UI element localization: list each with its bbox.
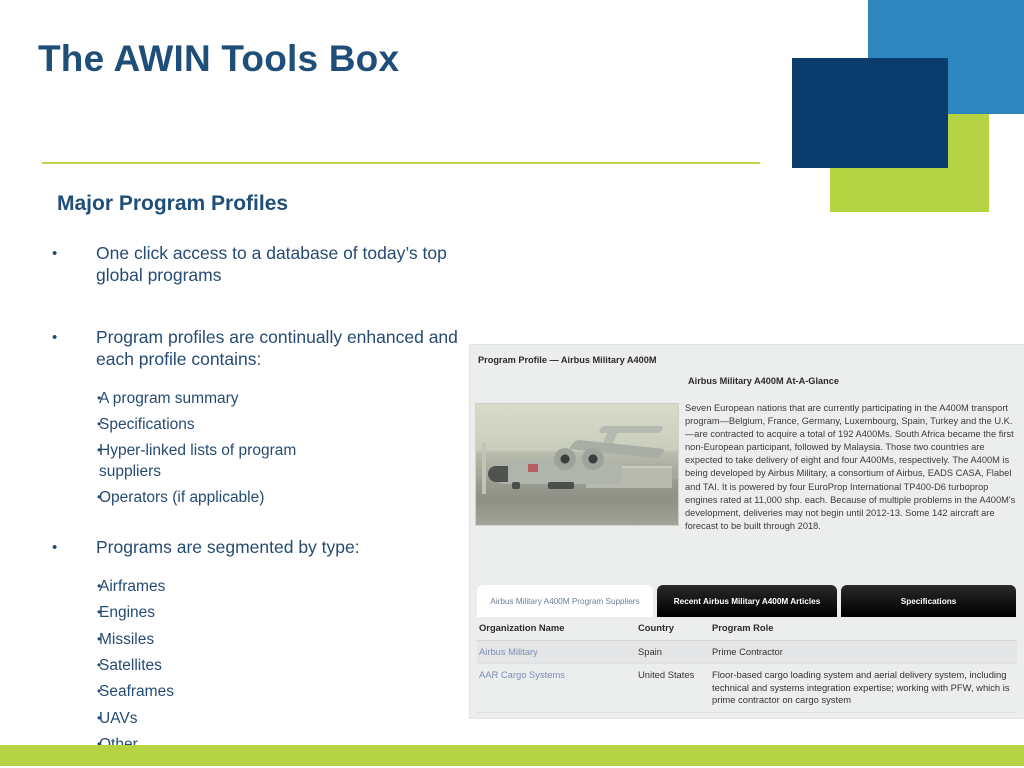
sub-bullet-text: Hyper-linked lists of program suppliers (99, 441, 359, 482)
sub-bullet-item: • Satellites (52, 656, 482, 676)
sub-bullet-item: • Hyper-linked lists of program supplier… (52, 441, 482, 482)
cell-organization-link[interactable]: Airbus Military (477, 646, 638, 659)
sub-bullet-item: • Engines (52, 603, 482, 623)
sub-bullet-text: Missiles (99, 630, 359, 650)
bullet-marker-icon: • (52, 327, 96, 371)
at-a-glance-heading: Airbus Military A400M At-A-Glance (688, 376, 839, 386)
cell-country: United States (638, 669, 712, 707)
table-header-row: Organization Name Country Program Role (477, 617, 1017, 641)
sub-bullet-item: • Seaframes (52, 682, 482, 702)
bullet-marker-icon: • (52, 243, 96, 287)
sub-bullet-text: Operators (if applicable) (99, 488, 359, 508)
table-row[interactable]: Airbus Military Spain Prime Contractor (477, 641, 1017, 665)
bullet-text: Program profiles are continually enhance… (96, 327, 482, 371)
section-subheading: Major Program Profiles (57, 192, 288, 216)
bullet-marker-icon: • (52, 537, 96, 559)
sub-bullet-item: • A program summary (52, 389, 482, 409)
at-a-glance-body: Seven European nations that are currentl… (685, 402, 1019, 533)
bullet-item: • Programs are segmented by type: (52, 537, 482, 559)
cell-country: Spain (638, 646, 712, 659)
sub-bullet-item: • Operators (if applicable) (52, 488, 482, 508)
sub-bullet-item: • UAVs (52, 709, 482, 729)
sub-bullet-marker-icon: • (52, 488, 99, 508)
suppliers-table: Organization Name Country Program Role A… (477, 617, 1017, 713)
sub-bullet-text: Seaframes (99, 682, 359, 702)
sub-bullet-marker-icon: • (52, 577, 99, 597)
footer-band (0, 745, 1024, 766)
sub-bullet-marker-icon: • (52, 389, 99, 409)
page-title: The AWIN Tools Box (38, 38, 399, 80)
cell-program-role: Floor-based cargo loading system and aer… (712, 669, 1017, 707)
bullet-list: • One click access to a database of toda… (52, 243, 482, 762)
sub-bullet-item: • Missiles (52, 630, 482, 650)
sub-bullet-text: Engines (99, 603, 359, 623)
column-header-country: Country (638, 622, 712, 635)
profile-tab-bar: Airbus Military A400M Program Suppliers … (470, 585, 1024, 617)
sub-bullet-marker-icon: • (52, 630, 99, 650)
sub-bullet-marker-icon: • (52, 709, 99, 729)
sub-bullet-marker-icon: • (52, 415, 99, 435)
sub-bullet-text: Airframes (99, 577, 359, 597)
spacer (52, 515, 482, 537)
column-header-organization: Organization Name (477, 622, 638, 635)
tab-specifications[interactable]: Specifications (841, 585, 1016, 617)
aircraft-photo (476, 404, 678, 525)
tab-program-suppliers[interactable]: Airbus Military A400M Program Suppliers (477, 585, 653, 617)
program-profile-screenshot: Program Profile — Airbus Military A400M … (470, 345, 1024, 718)
cell-program-role: Prime Contractor (712, 646, 1017, 659)
bullet-item: • Program profiles are continually enhan… (52, 327, 482, 371)
cell-organization-link[interactable]: AAR Cargo Systems (477, 669, 638, 707)
title-divider (42, 162, 760, 164)
column-header-program-role: Program Role (712, 622, 1017, 635)
sub-bullet-item: • Airframes (52, 577, 482, 597)
sub-bullet-text: A program summary (99, 389, 359, 409)
tab-recent-articles[interactable]: Recent Airbus Military A400M Articles (657, 585, 837, 617)
sub-bullet-text: UAVs (99, 709, 359, 729)
bullet-item: • One click access to a database of toda… (52, 243, 482, 287)
table-row[interactable]: AAR Cargo Systems United States Floor-ba… (477, 664, 1017, 713)
sub-bullet-text: Specifications (99, 415, 359, 435)
sub-bullet-item: • Specifications (52, 415, 482, 435)
bullet-text: One click access to a database of today’… (96, 243, 482, 287)
sub-bullet-marker-icon: • (52, 441, 99, 482)
decor-block-navy (792, 58, 948, 168)
sub-bullet-marker-icon: • (52, 682, 99, 702)
sub-bullet-marker-icon: • (52, 603, 99, 623)
profile-panel-title: Program Profile — Airbus Military A400M (478, 355, 657, 365)
sub-bullet-text: Satellites (99, 656, 359, 676)
spacer (52, 305, 482, 327)
bullet-text: Programs are segmented by type: (96, 537, 482, 559)
sub-bullet-marker-icon: • (52, 656, 99, 676)
